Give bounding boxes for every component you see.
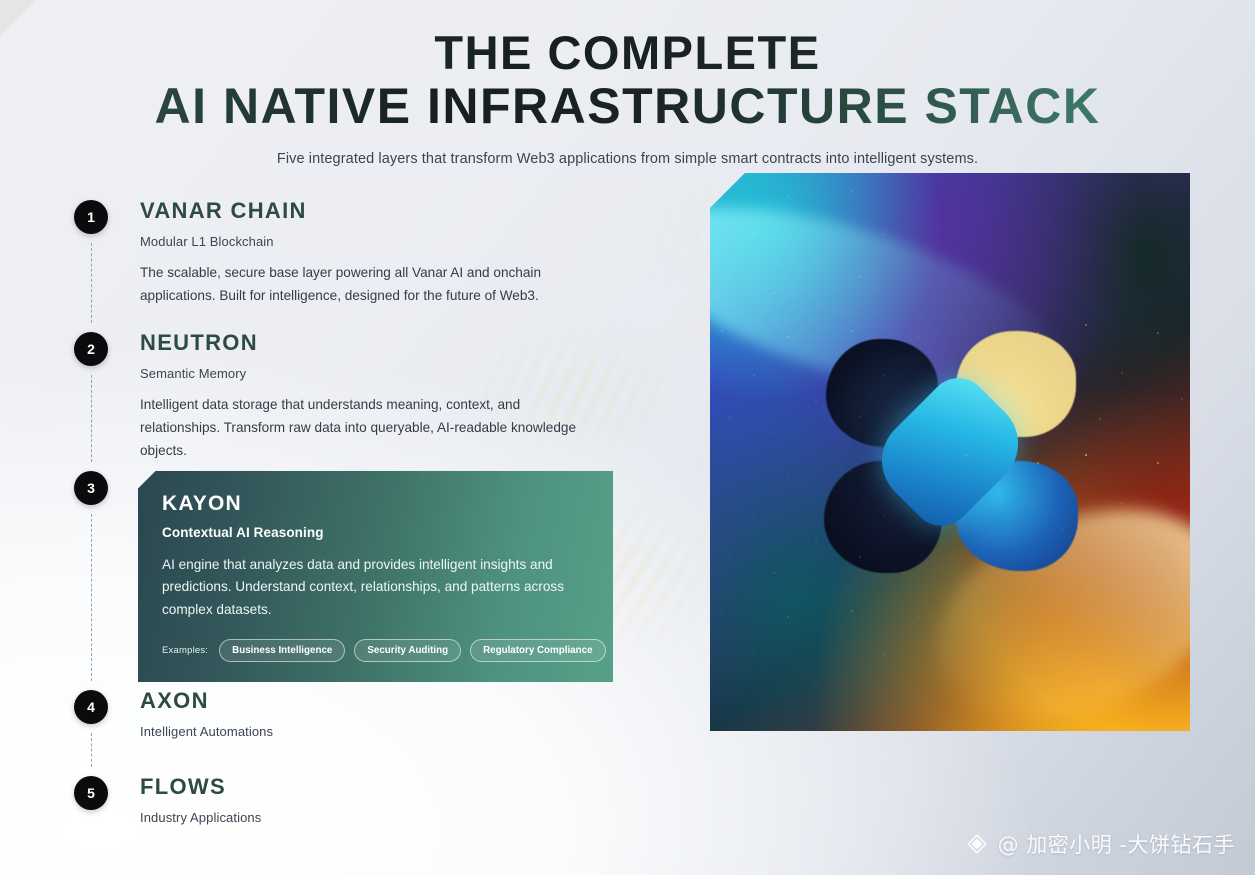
layer-title: AXON <box>140 690 707 712</box>
layer-number-badge: 1 <box>74 200 108 234</box>
watermark: @ 加密小明 -大饼钻石手 <box>965 829 1235 859</box>
layer-marker-column: 5 <box>62 776 120 838</box>
layer-number-badge: 2 <box>74 332 108 366</box>
layer-subtitle: Modular L1 Blockchain <box>140 234 707 249</box>
layer-title: KAYON <box>162 493 589 514</box>
layer-title: VANAR CHAIN <box>140 200 707 222</box>
timeline-connector <box>91 514 92 681</box>
page-title-line-1: THE COMPLETE <box>0 30 1255 76</box>
layer-title: FLOWS <box>140 776 707 798</box>
page-subtitle: Five integrated layers that transform We… <box>0 151 1255 167</box>
layer-number-badge: 4 <box>74 690 108 724</box>
layer-subtitle: Contextual AI Reasoning <box>162 525 589 540</box>
kayon-highlight-card[interactable]: KAYON Contextual AI Reasoning AI engine … <box>138 471 613 682</box>
page-title-line-2: AI NATIVE INFRASTRUCTURE STACK <box>0 82 1255 131</box>
timeline-connector <box>91 733 92 767</box>
layer-marker-column: 3 <box>62 471 120 690</box>
layer-item-axon[interactable]: 4 AXON Intelligent Automations <box>62 690 707 776</box>
layer-content: NEUTRON Semantic Memory Intelligent data… <box>120 332 707 470</box>
layer-item-neutron[interactable]: 2 NEUTRON Semantic Memory Intelligent da… <box>62 332 707 470</box>
watermark-text: @ 加密小明 -大饼钻石手 <box>998 829 1235 859</box>
example-pill-regulatory-compliance[interactable]: Regulatory Compliance <box>470 639 605 662</box>
layer-marker-column: 1 <box>62 200 120 332</box>
layer-content: FLOWS Industry Applications <box>120 776 707 838</box>
diamond-icon <box>965 832 989 856</box>
layer-content: KAYON Contextual AI Reasoning AI engine … <box>120 471 707 690</box>
timeline-connector <box>91 243 92 323</box>
layers-timeline: 1 VANAR CHAIN Modular L1 Blockchain The … <box>62 200 707 838</box>
hero-abstract-image <box>710 173 1190 731</box>
kayon-examples-row: Examples: Business Intelligence Security… <box>162 639 589 662</box>
layer-marker-column: 2 <box>62 332 120 470</box>
example-pill-business-intelligence[interactable]: Business Intelligence <box>219 639 345 662</box>
examples-label: Examples: <box>162 645 208 656</box>
layer-content: VANAR CHAIN Modular L1 Blockchain The sc… <box>120 200 707 332</box>
layer-content: AXON Intelligent Automations <box>120 690 707 776</box>
abstract-core-shape <box>820 327 1080 577</box>
layer-subtitle: Semantic Memory <box>140 366 707 381</box>
layer-item-flows[interactable]: 5 FLOWS Industry Applications <box>62 776 707 838</box>
layer-item-kayon[interactable]: 3 KAYON Contextual AI Reasoning AI engin… <box>62 471 707 690</box>
infographic-page: THE COMPLETE AI NATIVE INFRASTRUCTURE ST… <box>0 0 1255 875</box>
layer-subtitle: Industry Applications <box>140 810 707 825</box>
timeline-connector <box>91 375 92 461</box>
page-corner-notch <box>0 0 36 36</box>
layer-title: NEUTRON <box>140 332 707 354</box>
layer-marker-column: 4 <box>62 690 120 776</box>
page-header: THE COMPLETE AI NATIVE INFRASTRUCTURE ST… <box>0 0 1255 167</box>
hero-visual-column <box>707 200 1200 838</box>
main-content: 1 VANAR CHAIN Modular L1 Blockchain The … <box>0 167 1255 838</box>
layer-item-vanar-chain[interactable]: 1 VANAR CHAIN Modular L1 Blockchain The … <box>62 200 707 332</box>
layer-description: The scalable, secure base layer powering… <box>140 262 600 308</box>
layer-number-badge: 3 <box>74 471 108 505</box>
layer-subtitle: Intelligent Automations <box>140 724 707 739</box>
layer-description: AI engine that analyzes data and provide… <box>162 554 589 622</box>
layer-number-badge: 5 <box>74 776 108 810</box>
layer-description: Intelligent data storage that understand… <box>140 394 600 462</box>
example-pill-security-auditing[interactable]: Security Auditing <box>354 639 461 662</box>
